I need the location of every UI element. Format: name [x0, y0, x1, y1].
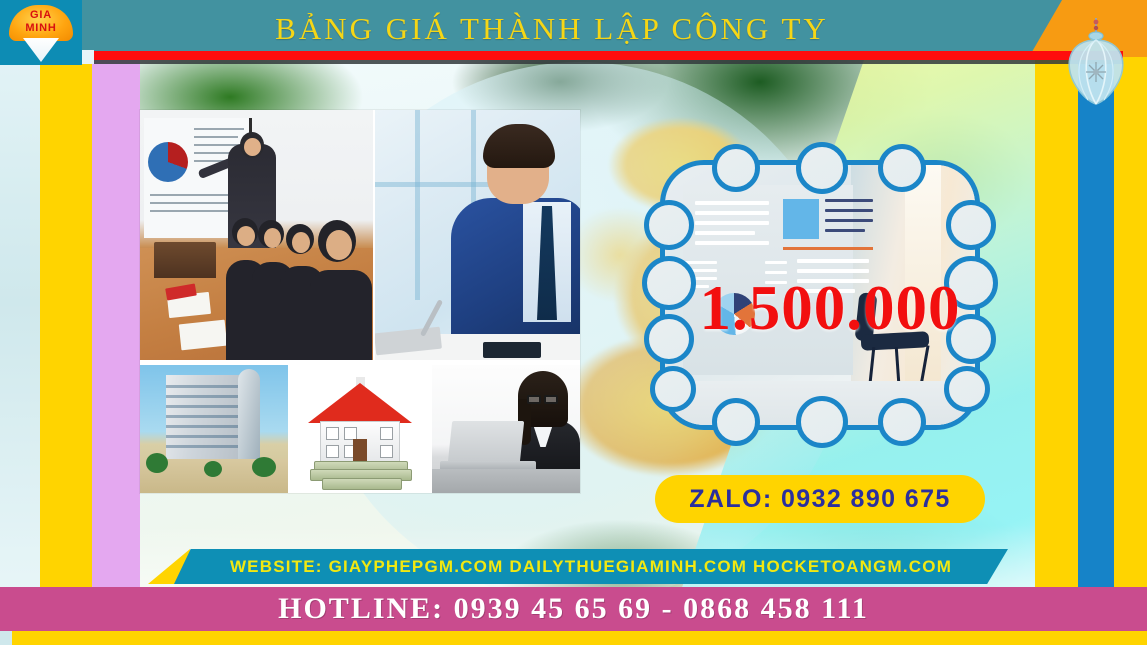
pie-chart-on-board — [148, 142, 188, 182]
diamond-gem-icon: GIA MINH — [9, 5, 73, 61]
logo-line-2: MINH — [9, 22, 73, 35]
left-bar-light-blue — [0, 57, 40, 602]
building-round-tower — [238, 369, 260, 461]
rule-notch — [82, 50, 94, 64]
laptop-on-table — [154, 242, 216, 278]
photo-businessman — [375, 110, 580, 360]
eyeglasses-left — [527, 395, 541, 404]
left-bar-yellow — [40, 57, 92, 602]
website-banner: WEBSITE: GIAYPHEPGM.COM DAILYTHUEGIAMINH… — [148, 549, 1008, 584]
right-bar-yellow-inner — [1035, 57, 1078, 602]
hanging-lantern-icon — [1060, 18, 1132, 106]
logo-line-1: GIA — [9, 9, 73, 22]
right-bar-blue — [1078, 57, 1114, 602]
header-red-rule-shadow — [88, 60, 1123, 64]
hotline-footer: HOTLINE: 0939 45 65 69 - 0868 458 111 — [0, 587, 1147, 631]
photo-office-building — [140, 365, 288, 493]
man-hair — [483, 124, 555, 168]
zalo-contact-button[interactable]: ZALO: 0932 890 675 — [655, 475, 985, 523]
footer-left-cap — [0, 631, 12, 645]
photo-businesswoman — [432, 365, 580, 493]
presenter-face — [244, 138, 261, 156]
header-red-rule — [88, 51, 1123, 60]
footer-yellow-strip — [12, 631, 1147, 645]
photo-house-on-money — [290, 365, 430, 493]
page-title: BẢNG GIÁ THÀNH LẬP CÔNG TY — [82, 0, 1022, 57]
woman-desk — [432, 469, 580, 493]
price-card: 1.500.000 — [660, 160, 980, 430]
house-door — [353, 439, 367, 463]
laptop-screen — [448, 421, 524, 463]
photo-business-meeting — [140, 110, 373, 360]
logo-container[interactable]: GIA MINH — [0, 0, 82, 65]
header-bar: BẢNG GIÁ THÀNH LẬP CÔNG TY — [0, 0, 1147, 57]
poster-canvas: 1.500.000 ZALO: 0932 890 675 WEBSITE: GI… — [0, 0, 1147, 645]
calculator — [483, 342, 541, 358]
house-roof — [308, 383, 412, 423]
right-bar-yellow-outer — [1114, 57, 1147, 602]
hotline-text: HOTLINE: 0939 45 65 69 - 0868 458 111 — [278, 592, 869, 626]
photo-collage — [140, 110, 580, 493]
website-banner-text[interactable]: WEBSITE: GIAYPHEPGM.COM DAILYTHUEGIAMINH… — [174, 549, 1008, 584]
left-bar-lilac — [92, 57, 140, 602]
price-amount: 1.500.000 — [660, 272, 1000, 345]
eyeglasses-right — [544, 395, 558, 404]
